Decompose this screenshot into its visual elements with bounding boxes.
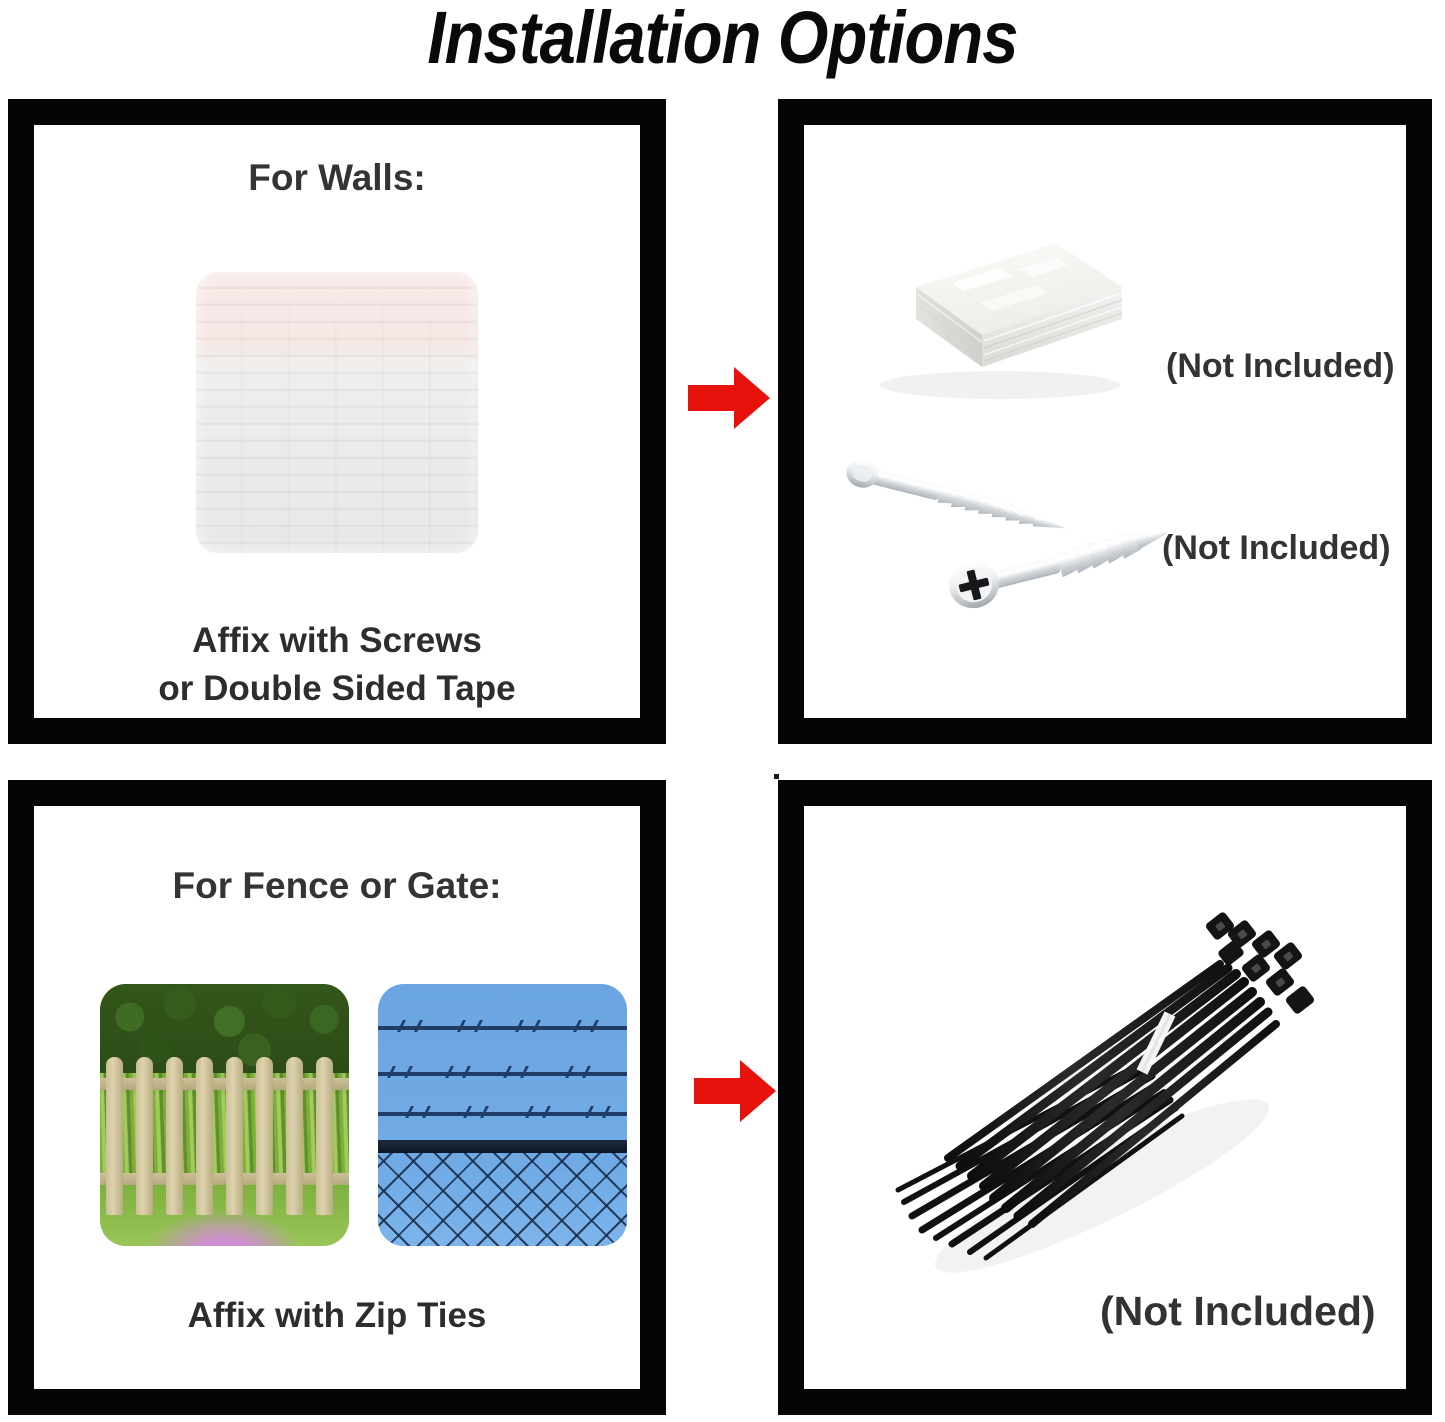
barb [565, 1066, 591, 1078]
barb [445, 1066, 471, 1078]
barb [405, 1106, 431, 1118]
picket [106, 1057, 123, 1214]
picket [286, 1057, 303, 1214]
picket [316, 1057, 333, 1214]
wooden-picket-fence-image [100, 984, 349, 1246]
picket [196, 1057, 213, 1214]
barb [457, 1020, 483, 1032]
picket [256, 1057, 273, 1214]
chain-fence-scene [378, 984, 627, 1246]
chain-link-fence-image [378, 984, 627, 1246]
double-sided-tape-stack-image [860, 235, 1130, 405]
screws-not-included-label: (Not Included) [1162, 529, 1391, 568]
tape-not-included-label: (Not Included) [1166, 347, 1395, 386]
panel-wall-hardware-inner: (Not Included) [804, 125, 1406, 718]
black-zip-ties-bundle-image [852, 886, 1322, 1276]
panel-fence-hardware-inner: (Not Included) [804, 806, 1406, 1389]
wood-fence-scene [100, 984, 349, 1246]
barb [573, 1020, 599, 1032]
zip-ties-not-included-label: (Not Included) [1100, 1288, 1376, 1335]
panel-for-fence-or-gate: For Fence or Gate: [8, 780, 666, 1415]
installation-options-infographic: Installation Options For Walls: Affix wi… [0, 0, 1445, 1422]
arrow-right-icon [692, 1056, 778, 1126]
caption-for-fence: Affix with Zip Ties [34, 1292, 640, 1340]
panel-for-walls-inner: For Walls: Affix with Screws or Double S… [34, 125, 640, 718]
barb [515, 1020, 541, 1032]
barb [397, 1020, 423, 1032]
barb [585, 1106, 611, 1118]
barb [503, 1066, 529, 1078]
wood-screws-image [824, 445, 1184, 645]
barb [463, 1106, 489, 1118]
stray-dot-artifact [774, 774, 779, 779]
caption-for-walls: Affix with Screws or Double Sided Tape [34, 617, 640, 713]
panel-for-walls: For Walls: Affix with Screws or Double S… [8, 99, 666, 744]
panel-fence-hardware: (Not Included) [778, 780, 1432, 1415]
panel-for-fence-inner: For Fence or Gate: [34, 806, 640, 1389]
caption-line-2: or Double Sided Tape [34, 665, 640, 713]
page-title: Installation Options [87, 0, 1359, 80]
white-brick-wall-image [196, 272, 478, 553]
barbed-wire-strand [378, 1072, 627, 1076]
chain-link-mesh [378, 1153, 627, 1246]
barb [525, 1106, 551, 1118]
barb [387, 1066, 413, 1078]
picket [136, 1057, 153, 1214]
panel-wall-hardware: (Not Included) [778, 99, 1432, 744]
caption-line-1: Affix with Screws [34, 617, 640, 665]
arrow-right-icon [686, 363, 772, 433]
picket [166, 1057, 183, 1214]
picket [226, 1057, 243, 1214]
fence-top-rail [378, 1140, 627, 1153]
heading-for-walls: For Walls: [34, 156, 640, 200]
heading-for-fence-or-gate: For Fence or Gate: [34, 864, 640, 908]
